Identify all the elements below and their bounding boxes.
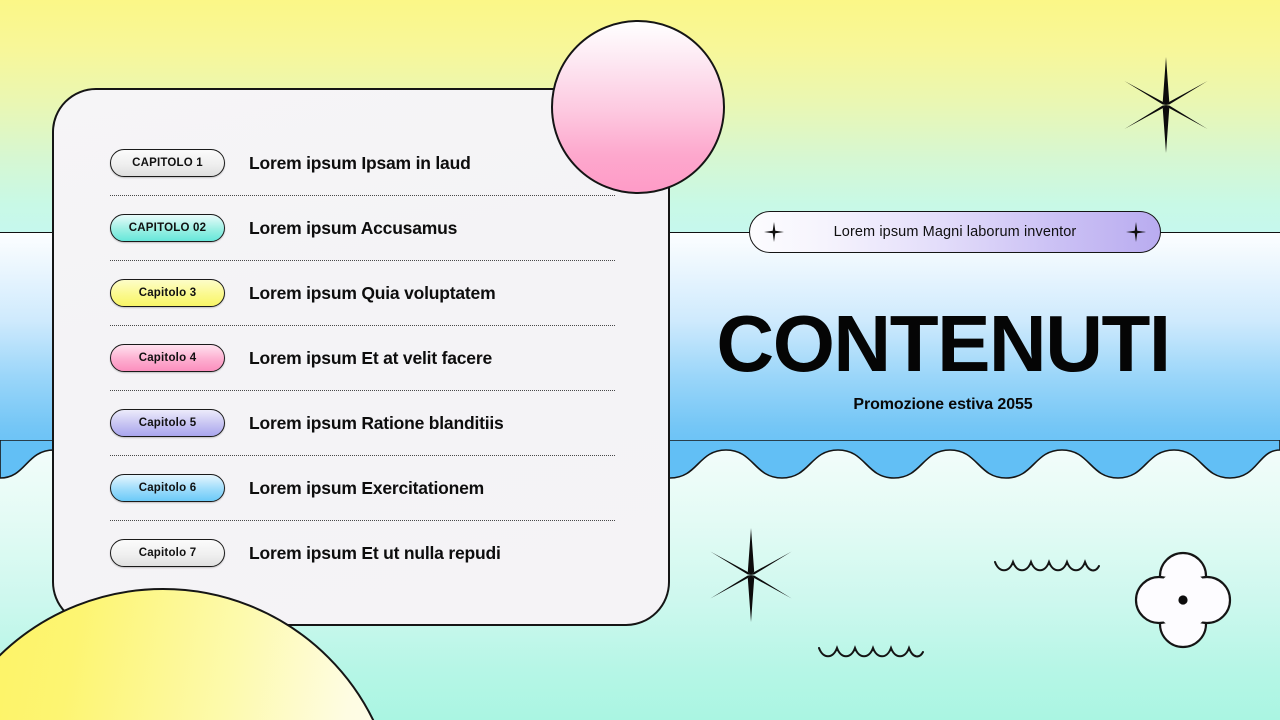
list-item[interactable]: Capitolo 5 Lorem ipsum Ratione blanditii…	[110, 400, 615, 446]
chapter-badge[interactable]: CAPITOLO 02	[110, 214, 225, 242]
list-item[interactable]: Capitolo 3 Lorem ipsum Quia voluptatem	[110, 270, 615, 316]
list-divider	[110, 520, 615, 521]
chapter-title: Lorem ipsum Accusamus	[249, 218, 457, 239]
sparkle-top-right-icon	[1118, 57, 1214, 153]
list-item[interactable]: Capitolo 7 Lorem ipsum Et ut nulla repud…	[110, 530, 615, 576]
list-item[interactable]: Capitolo 6 Lorem ipsum Exercitationem	[110, 465, 615, 511]
chapter-title: Lorem ipsum Et at velit facere	[249, 348, 492, 369]
chapter-badge[interactable]: Capitolo 6	[110, 474, 225, 502]
badge-label: Lorem ipsum Magni laborum inventor	[784, 224, 1126, 240]
flower-icon	[1131, 548, 1235, 652]
table-of-contents-list: CAPITOLO 1 Lorem ipsum Ipsam in laud CAP…	[110, 140, 615, 576]
list-item[interactable]: Capitolo 4 Lorem ipsum Et at velit facer…	[110, 335, 615, 381]
list-divider	[110, 325, 615, 326]
squiggle-lower-icon	[816, 642, 926, 662]
list-divider	[110, 455, 615, 456]
pink-circle-decoration	[551, 20, 725, 194]
chapter-title: Lorem ipsum Exercitationem	[249, 478, 484, 499]
chapter-title: Lorem ipsum Et ut nulla repudi	[249, 543, 501, 564]
list-divider	[110, 390, 615, 391]
chapter-badge[interactable]: Capitolo 7	[110, 539, 225, 567]
list-item[interactable]: CAPITOLO 1 Lorem ipsum Ipsam in laud	[110, 140, 615, 186]
sparkle-bottom-left-icon	[704, 528, 798, 622]
page-subtitle: Promozione estiva 2055	[660, 396, 1226, 414]
chapter-title: Lorem ipsum Ratione blanditiis	[249, 413, 504, 434]
slide-canvas: CAPITOLO 1 Lorem ipsum Ipsam in laud CAP…	[0, 0, 1280, 720]
chapter-title: Lorem ipsum Ipsam in laud	[249, 153, 471, 174]
chapter-badge[interactable]: Capitolo 3	[110, 279, 225, 307]
page-title: CONTENUTI	[660, 305, 1226, 383]
subtitle-badge[interactable]: Lorem ipsum Magni laborum inventor	[749, 211, 1161, 253]
chapter-title: Lorem ipsum Quia voluptatem	[249, 283, 495, 304]
list-divider	[110, 260, 615, 261]
chapter-badge[interactable]: CAPITOLO 1	[110, 149, 225, 177]
squiggle-upper-icon	[992, 556, 1102, 576]
sparkle-right-icon	[1126, 222, 1146, 242]
chapter-badge[interactable]: Capitolo 5	[110, 409, 225, 437]
list-divider	[110, 195, 615, 196]
sparkle-left-icon	[764, 222, 784, 242]
list-item[interactable]: CAPITOLO 02 Lorem ipsum Accusamus	[110, 205, 615, 251]
chapter-badge[interactable]: Capitolo 4	[110, 344, 225, 372]
